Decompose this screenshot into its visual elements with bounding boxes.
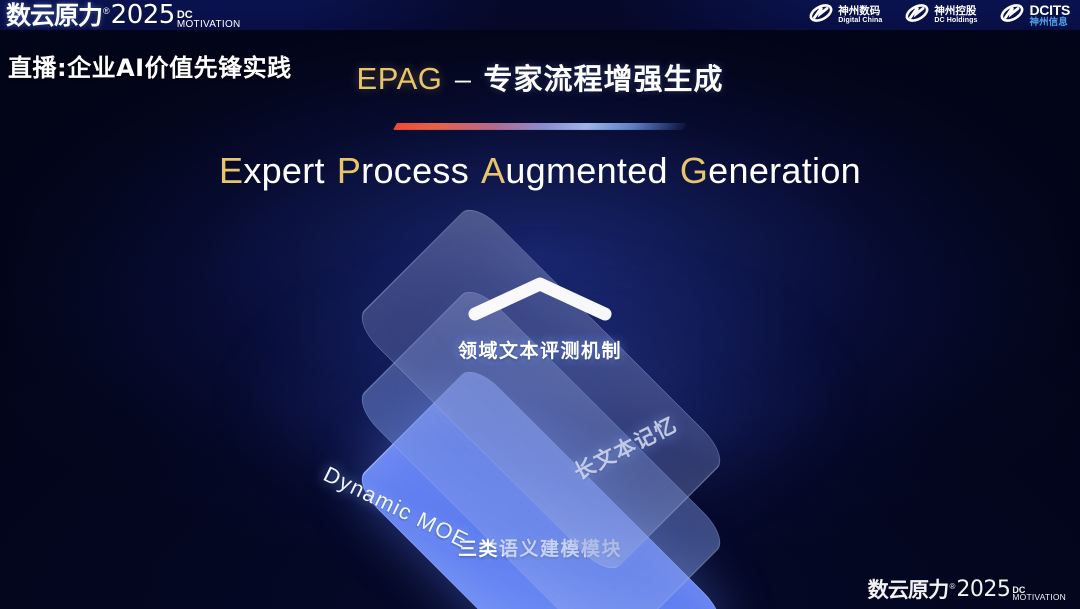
swirl-icon [904,3,930,28]
watermark-registered-mark: ® [949,582,955,591]
watermark-logo: 数云原力 ® 2025 DC MOTIVATION [868,579,1066,601]
watermark-name-cn: 数云原力 [868,580,949,601]
swirl-icon [999,3,1025,28]
partner-name-cn: 神州数码 [838,6,882,17]
watermark-year: 2025 [956,579,1010,601]
partner-name-en: Digital China [838,17,882,24]
subtitle-capital: P [337,150,361,191]
watermark-dc-line2: MOTIVATION [1012,594,1066,602]
brand-dc-line2: MOTIVATION [177,20,241,29]
partner-name-en: DCITS [1029,3,1070,18]
partner-name-cn: 神州控股 [934,6,977,17]
partner-name-en: DC Holdings [934,17,977,24]
subtitle-remainder: ugmented [505,150,668,191]
partner-logo-dcits: DCITS 神州信息 [999,3,1070,28]
subtitle-remainder: eneration [708,150,861,191]
partner-logo-group: 神州数码 Digital China 神州控股 DC Holdings [808,3,1070,28]
swirl-icon [808,3,834,28]
partner-label: 神州数码 Digital China [838,6,882,24]
partner-label: 神州控股 DC Holdings [934,6,977,24]
live-banner-text: 直播:企业AI价值先锋实践 [8,48,292,83]
partner-label: DCITS 神州信息 [1029,3,1070,28]
title-dash: – [455,64,471,96]
subtitle-word-generation: Generation [680,150,861,191]
brand-dc-motivation: DC MOTIVATION [177,10,241,29]
subtitle-remainder: rocess [361,150,469,191]
layer-stack-diagram: 三类语义建模模块 Dynamic MOE 长文本记忆 领域文本评测机制 [280,228,800,568]
gradient-divider [393,123,687,130]
watermark-dc-motivation: DC MOTIVATION [1012,586,1066,602]
partner-name-cn: 神州信息 [1029,18,1070,28]
subtitle-capital: E [219,150,243,191]
subtitle-word-augmented: Augmented [481,150,668,191]
subtitle-word-process: Process [337,150,469,191]
title-acronym: EPAG [357,61,443,96]
subtitle-capital: G [680,150,708,191]
brand-registered-mark: ® [103,7,110,16]
brand-name-cn: 数云原力 [6,3,102,28]
title-chinese: 专家流程增强生成 [483,62,723,96]
subtitle-word-expert: Expert [219,150,325,191]
subtitle-capital: A [481,150,505,191]
brand-logo: 数云原力 ® 2025 DC MOTIVATION [6,2,241,28]
partner-logo-digital-china: 神州数码 Digital China [808,3,882,28]
partner-logo-dc-holdings: 神州控股 DC Holdings [904,3,977,28]
layer-top: 领域文本评测机制 [280,228,800,488]
brand-year: 2025 [111,2,175,28]
slide-canvas: 数云原力 ® 2025 DC MOTIVATION 直播:企业AI价值先锋实践 … [0,0,1080,609]
subtitle-remainder: xpert [243,150,325,191]
slide-subtitle: ExpertProcessAugmentedGeneration [0,150,1080,192]
